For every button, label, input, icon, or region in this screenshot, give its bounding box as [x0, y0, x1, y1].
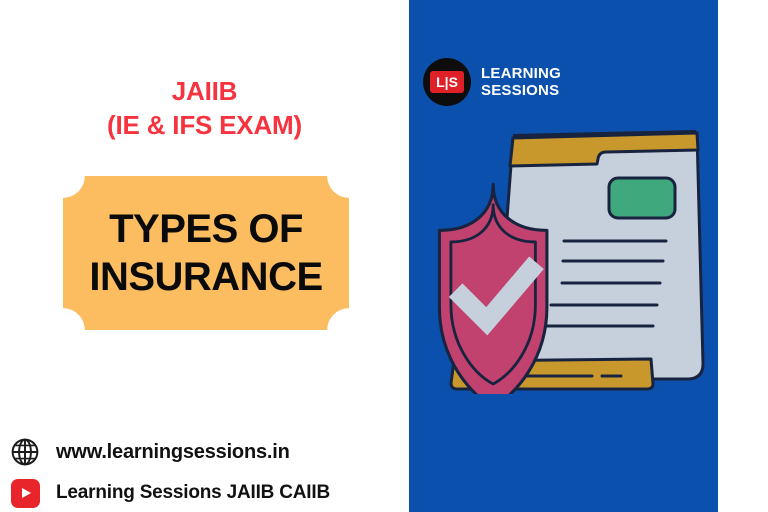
- exam-heading-line1: JAIIB: [0, 74, 409, 108]
- blue-panel: L|S LEARNING SESSIONS: [409, 0, 718, 512]
- exam-heading: JAIIB (IE & IFS EXAM): [0, 74, 409, 142]
- title-line1: TYPES OF: [109, 205, 303, 253]
- brand-name-line1: LEARNING: [481, 65, 561, 82]
- youtube-badge: [11, 479, 40, 508]
- brand-logo[interactable]: L|S LEARNING SESSIONS: [423, 58, 561, 106]
- right-gutter: [718, 0, 768, 512]
- footer: www.learningsessions.in Learning Session…: [0, 415, 409, 512]
- insurance-illustration: [409, 128, 718, 394]
- youtube-icon: [8, 478, 42, 508]
- brand-name-line2: SESSIONS: [481, 82, 561, 99]
- exam-heading-line2: (IE & IFS EXAM): [0, 108, 409, 142]
- footer-website-row[interactable]: www.learningsessions.in: [8, 435, 290, 469]
- globe-icon: [8, 435, 42, 469]
- brand-name: LEARNING SESSIONS: [481, 65, 561, 99]
- website-label: www.learningsessions.in: [56, 441, 290, 464]
- poster-canvas: JAIIB (IE & IFS EXAM) TYPES OF INSURANCE: [0, 0, 768, 512]
- left-content-column: JAIIB (IE & IFS EXAM) TYPES OF INSURANCE: [0, 0, 409, 512]
- youtube-channel-label: Learning Sessions JAIIB CAIIB: [56, 482, 330, 504]
- footer-youtube-row[interactable]: Learning Sessions JAIIB CAIIB: [8, 478, 330, 508]
- green-highlight-block: [609, 178, 675, 218]
- title-banner-text: TYPES OF INSURANCE: [63, 176, 349, 330]
- ls-logo-icon: L|S: [423, 58, 471, 106]
- title-line2: INSURANCE: [89, 253, 322, 301]
- play-triangle-icon: [22, 488, 31, 498]
- ls-badge-text: L|S: [429, 70, 465, 94]
- title-banner: TYPES OF INSURANCE: [63, 176, 349, 330]
